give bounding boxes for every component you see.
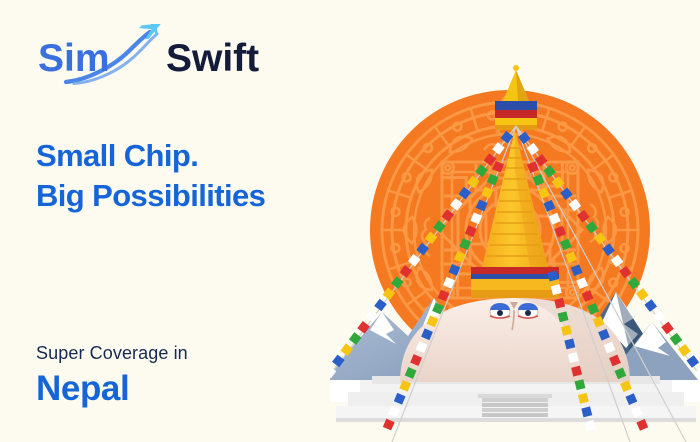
promo-banner: Sim Swift Small Chip. Big Possibilities … [0, 0, 700, 442]
subheading: Super Coverage in Nepal [36, 341, 336, 411]
nepal-illustration [330, 60, 700, 442]
logo-graphic: Sim Swift [38, 24, 268, 86]
stupa-harmika [471, 267, 559, 298]
illustration-graphic [330, 60, 700, 442]
stupa-base-platform [336, 376, 696, 422]
headline: Small Chip. Big Possibilities [36, 136, 376, 216]
headline-line-2: Big Possibilities [36, 176, 376, 216]
logo-text-sim: Sim [38, 37, 110, 80]
country-name: Nepal [36, 368, 336, 411]
stupa-stairs [478, 394, 552, 417]
headline-line-1: Small Chip. [36, 136, 376, 176]
simswift-logo[interactable]: Sim Swift [38, 24, 268, 86]
logo-text-swift: Swift [166, 37, 259, 80]
coverage-kicker: Super Coverage in [36, 341, 336, 365]
